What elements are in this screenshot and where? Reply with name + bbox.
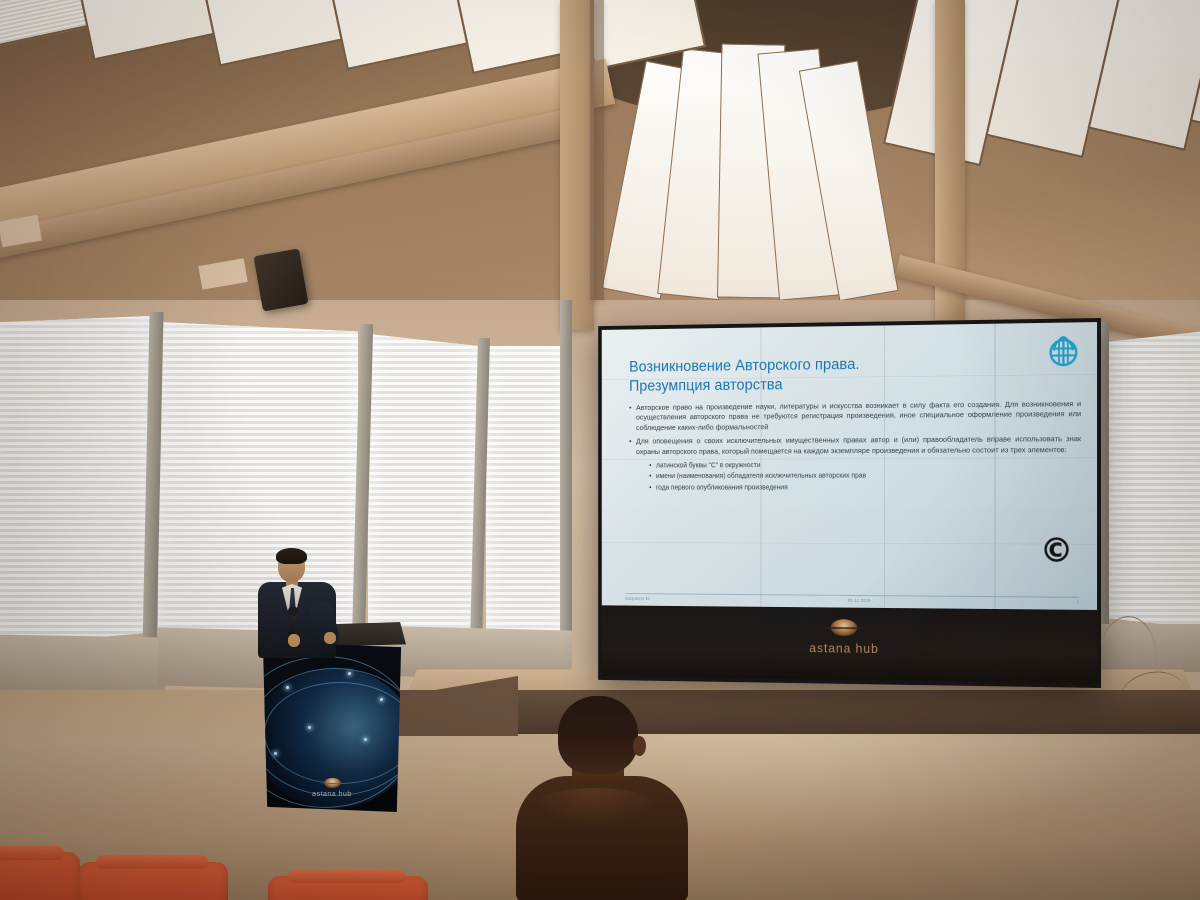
- astana-hub-sphere-icon: [324, 778, 341, 788]
- astana-hub-brand: astana hub: [602, 617, 1097, 659]
- bullet-marker-icon: •: [629, 437, 631, 458]
- window-pane: [0, 316, 150, 646]
- podium-astana-hub-brand: astana hub: [260, 778, 404, 798]
- slide-sub-bullet-list: • латинской буквы "С" в окружности • име…: [649, 459, 1081, 493]
- slide-bullet: • Для оповещения о своих исключительных …: [629, 434, 1081, 457]
- audience-shoulder-highlight: [530, 788, 660, 828]
- presenter-figure: [244, 548, 356, 658]
- window-sill: [0, 634, 165, 695]
- column-left: [560, 0, 594, 330]
- slide-title-line-2: Презумпция авторства: [629, 372, 1081, 396]
- window-mullion: [560, 300, 572, 640]
- presentation-slide: Возникновение Авторского права. Презумпц…: [602, 322, 1097, 610]
- slide-sub-bullet-text: латинской буквы "С" в окружности: [656, 460, 760, 471]
- astana-hub-sphere-icon: [831, 619, 858, 636]
- presenter-hand: [324, 632, 336, 644]
- slide-sub-bullet: • имени (наименования) обладателя исключ…: [649, 470, 1081, 481]
- microphone-head-icon: [288, 606, 298, 616]
- slide-bullet-text: Авторское право на произведение науки, л…: [636, 399, 1081, 434]
- podium-brand-text: astana hub: [312, 791, 352, 798]
- video-wall-display[interactable]: Возникновение Авторского права. Презумпц…: [598, 318, 1101, 688]
- chair-armrest: [288, 870, 406, 883]
- window-pane: [368, 334, 478, 634]
- slide-page-number: 7: [1077, 600, 1080, 605]
- audience-head: [558, 696, 638, 774]
- chair-armrest: [0, 846, 64, 860]
- slide-footer-date: 05.12.2019: [848, 598, 871, 603]
- window-pane: [1106, 330, 1200, 630]
- slide-footer-source: kazpatent.kz: [625, 596, 650, 601]
- slide-body: • Авторское право на произведение науки,…: [629, 399, 1081, 493]
- presenter-hand: [288, 634, 300, 647]
- slide-footer: kazpatent.kz 05.12.2019 7: [625, 593, 1079, 605]
- presenter-hair: [276, 548, 307, 564]
- audience-member-figure: [500, 696, 690, 900]
- ceiling-speaker-icon: [253, 248, 308, 311]
- display-lower-bezel: astana hub: [602, 605, 1097, 684]
- bullet-marker-icon: •: [649, 471, 651, 481]
- slide-sub-bullet-text: имени (наименования) обладателя исключит…: [656, 471, 866, 482]
- slide-sub-bullet: • года первого опубликования произведени…: [649, 482, 1081, 493]
- slide-bullet-text: Для оповещения о своих исключительных им…: [636, 434, 1081, 457]
- dome-rib: [590, 0, 604, 300]
- copyright-symbol-icon: ©: [1040, 534, 1073, 568]
- bullet-marker-icon: •: [629, 403, 631, 434]
- slide-sub-bullet: • латинской буквы "С" в окружности: [649, 459, 1081, 471]
- bullet-marker-icon: •: [649, 483, 651, 493]
- audience-ear: [633, 736, 646, 756]
- slide-bullet: • Авторское право на произведение науки,…: [629, 399, 1081, 434]
- slide-sub-bullet-text: года первого опубликования произведения: [656, 482, 788, 492]
- podium-front-panel: astana hub: [260, 642, 404, 812]
- astana-hub-brand-text: astana hub: [809, 640, 879, 656]
- bullet-marker-icon: •: [649, 460, 651, 470]
- presentation-hall-photo: Возникновение Авторского права. Презумпц…: [0, 0, 1200, 900]
- window-pane: [486, 346, 566, 634]
- slide-title: Возникновение Авторского права. Презумпц…: [629, 352, 1081, 396]
- chair-armrest: [96, 855, 208, 869]
